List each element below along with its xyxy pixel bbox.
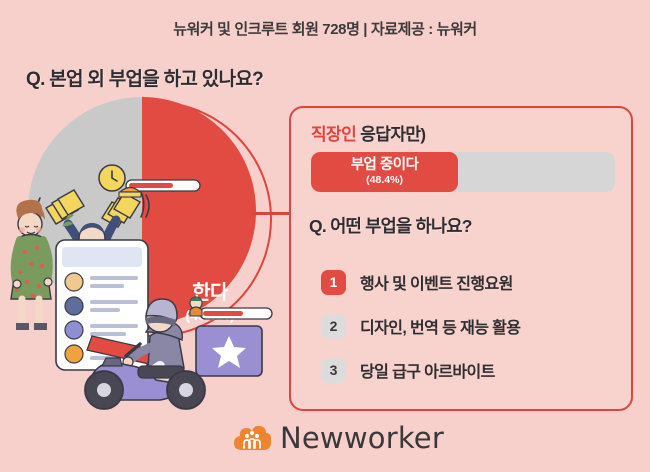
panel-title: 직장인 응답자만)	[311, 120, 425, 145]
source-line: 뉴워커 및 인크루트 회원 728명 | 자료제공 : 뉴워커	[0, 18, 650, 39]
list-item: 1 행사 및 이벤트 진행요원	[321, 260, 621, 304]
newworker-logo: Newworker	[233, 421, 444, 455]
progress-bar-fill: 부업 중이다 (48.4%)	[311, 152, 458, 192]
sub-question: Q. 어떤 부업을 하나요?	[309, 213, 472, 238]
rank-label: 행사 및 이벤트 진행요원	[360, 270, 513, 294]
rank-list: 1 행사 및 이벤트 진행요원 2 디자인, 번역 등 재능 활용 3 당일 급…	[321, 260, 621, 392]
results-panel: 직장인 응답자만) 부업 중이다 (48.4%) Q. 어떤 부업을 하나요? …	[289, 106, 633, 411]
pie-slice-percent: (49.5%)	[150, 307, 270, 323]
progress-bar-percent: (48.4%)	[366, 175, 403, 187]
pie-slice-name: 한다	[150, 282, 270, 305]
panel-title-rest: 응답자만)	[360, 125, 425, 144]
page-title: Q. 본업 외 부업을 하고 있나요?	[26, 64, 263, 91]
rank-badge: 3	[321, 358, 346, 383]
panel-title-highlight: 직장인	[311, 125, 356, 144]
infographic-root: 뉴워커 및 인크루트 회원 728명 | 자료제공 : 뉴워커 Q. 본업 외 …	[0, 0, 650, 472]
list-item: 2 디자인, 번역 등 재능 활용	[321, 304, 621, 348]
list-item: 3 당일 급구 아르바이트	[321, 348, 621, 392]
pie-chart: 한다 (49.5%)	[28, 97, 278, 347]
rank-label: 당일 급구 아르바이트	[360, 358, 495, 382]
logo-wordmark: Newworker	[280, 421, 444, 455]
cloud-people-icon	[233, 423, 271, 453]
pie-slice-label: 한다 (49.5%)	[150, 282, 270, 323]
rank-label: 디자인, 번역 등 재능 활용	[360, 314, 520, 338]
rank-badge: 2	[321, 314, 346, 339]
progress-bar-track: 부업 중이다 (48.4%)	[311, 152, 615, 192]
rank-badge: 1	[321, 270, 346, 295]
progress-bar-label: 부업 중이다	[351, 158, 419, 174]
